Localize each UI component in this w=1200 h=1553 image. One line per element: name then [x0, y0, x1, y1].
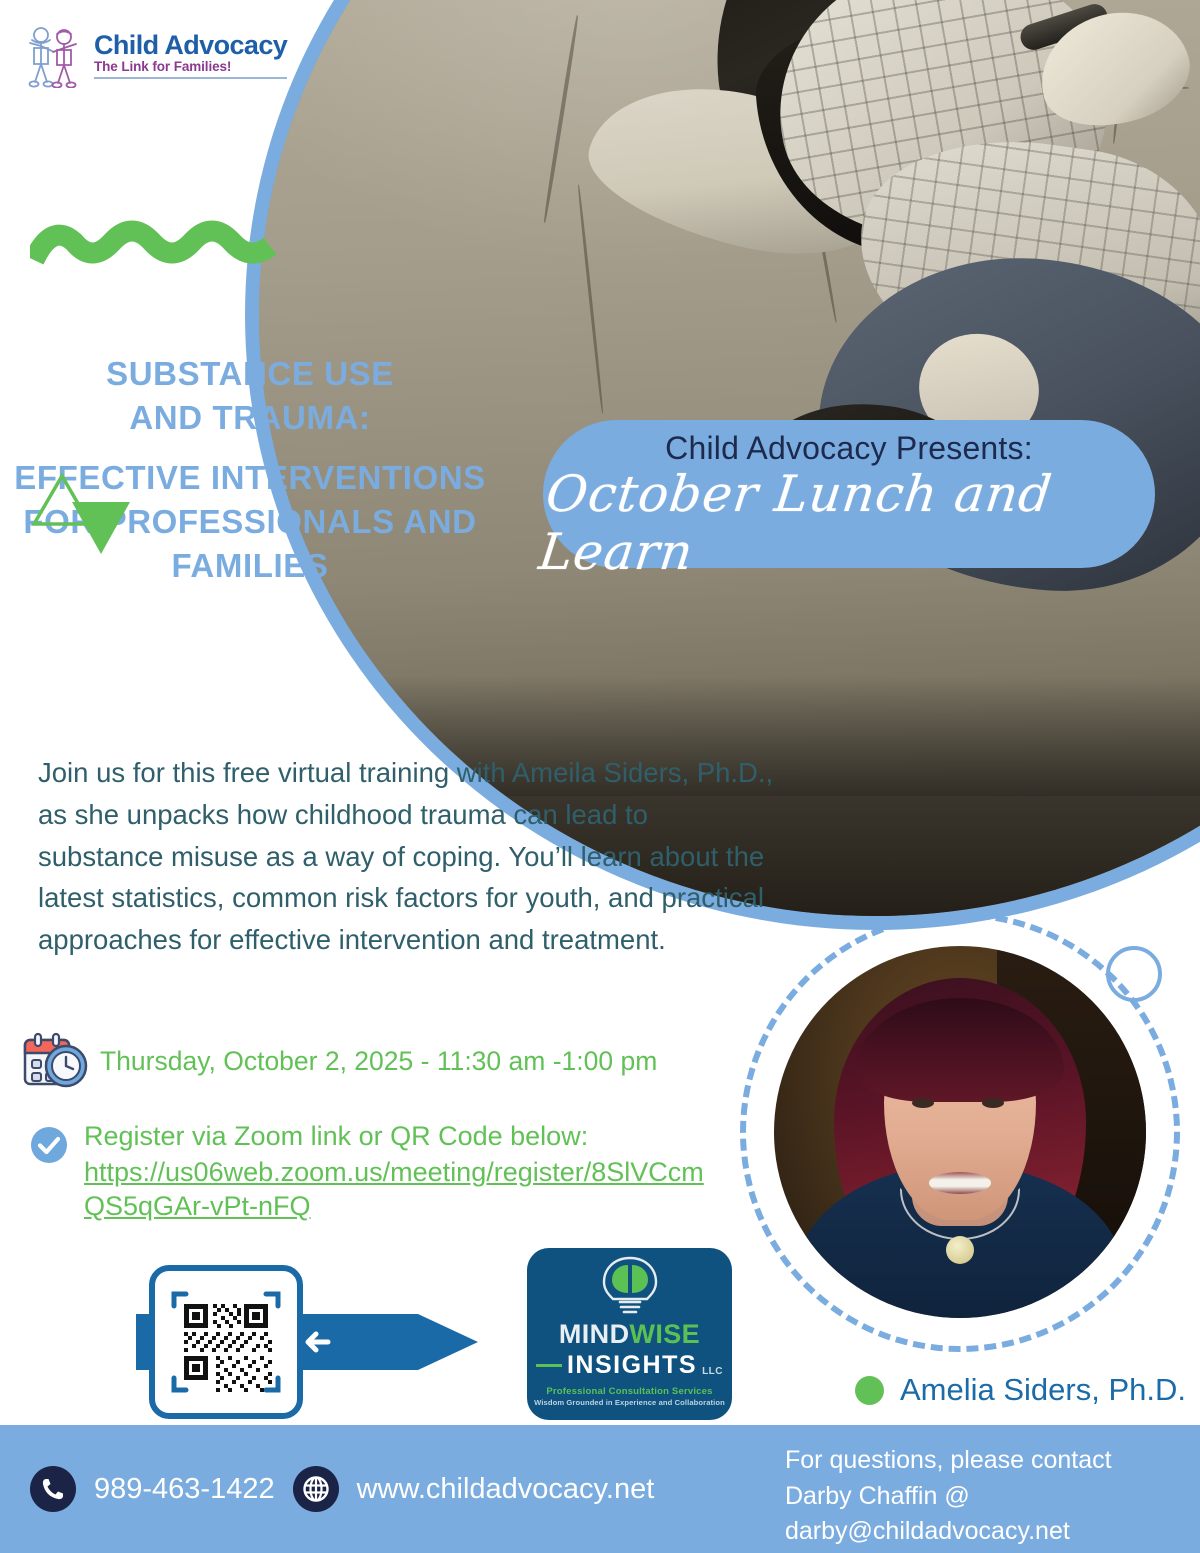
headline-line-2: and Trauma: — [0, 396, 500, 440]
register-link[interactable]: https://us06web.zoom.us/meeting/register… — [84, 1156, 714, 1224]
partner-logo-rule-left — [536, 1364, 562, 1367]
schedule-text: Thursday, October 2, 2025 - 11:30 am -1:… — [100, 1046, 657, 1077]
footer-questions-block: For questions, please contact Darby Chaf… — [785, 1443, 1112, 1550]
footer-contact-email[interactable]: darby@childadvocacy.net — [785, 1514, 1112, 1550]
speaker-necklace-pendant — [946, 1236, 974, 1264]
banner-presents-label: Child Advocacy Presents: — [665, 430, 1033, 467]
check-circle-icon — [30, 1126, 68, 1164]
footer-website[interactable]: www.childadvocacy.net — [357, 1473, 655, 1506]
speaker-name: Amelia Siders, Ph.D. — [900, 1372, 1186, 1408]
headline-line-1: Substance Use — [0, 352, 500, 396]
register-label: Register via Zoom link or QR Code below: — [84, 1120, 714, 1154]
phone-icon — [30, 1466, 76, 1512]
register-body: Register via Zoom link or QR Code below:… — [84, 1120, 714, 1223]
wall-crack — [577, 184, 604, 413]
org-logo-tagline: The Link for Families! — [94, 59, 287, 79]
green-triangles-mark-icon — [30, 468, 138, 560]
footer-bar: 989-463-1422 www.childadvocacy.net For q… — [0, 1425, 1200, 1553]
org-logo-title: Child Advocacy — [94, 31, 287, 59]
calendar-clock-icon — [22, 1032, 88, 1090]
partner-logo-wise: WISE — [629, 1319, 700, 1350]
footer-contact-line-1: For questions, please contact — [785, 1443, 1112, 1479]
partner-logo-insights-row: INSIGHTS LLC — [536, 1351, 723, 1380]
footer-phone: 989-463-1422 — [94, 1473, 275, 1506]
schedule-row: Thursday, October 2, 2025 - 11:30 am -1:… — [22, 1032, 657, 1090]
speaker-photo-frame — [740, 912, 1180, 1352]
wall-crack — [543, 15, 580, 223]
qr-block — [118, 1262, 498, 1427]
partner-logo-insights: INSIGHTS — [567, 1351, 697, 1380]
brain-lightbulb-icon — [594, 1255, 666, 1317]
banner-event-title: October Lunch and Learn — [536, 465, 1162, 581]
partner-logo-mind: MIND — [559, 1319, 630, 1350]
footer-contact-line-2: Darby Chaffin @ — [785, 1479, 1112, 1515]
avatar — [774, 946, 1146, 1318]
partner-logo-llc: LLC — [702, 1366, 723, 1380]
globe-icon — [293, 1466, 339, 1512]
green-dot-icon — [855, 1376, 884, 1405]
register-row: Register via Zoom link or QR Code below:… — [30, 1120, 760, 1223]
partner-logo-tagline-1: Professional Consultation Services — [546, 1386, 712, 1397]
footer-contact-group: 989-463-1422 www.childadvocacy.net — [30, 1466, 654, 1512]
green-wave-squiggle-icon — [30, 212, 280, 282]
partner-logo-wordmark: MIND WISE — [559, 1319, 700, 1350]
two-children-icon — [22, 22, 84, 88]
partner-logo-mindwise: MIND WISE INSIGHTS LLC Professional Cons… — [527, 1248, 732, 1420]
org-logo-text: Child Advocacy The Link for Families! — [94, 31, 287, 79]
org-logo: Child Advocacy The Link for Families! — [22, 22, 287, 88]
body-paragraph: Join us for this free virtual training w… — [38, 752, 778, 961]
qr-code-with-arrow — [118, 1262, 498, 1422]
speaker-eye-left — [912, 1098, 934, 1108]
speaker-eye-right — [982, 1098, 1004, 1108]
partner-logo-tagline-2: Wisdom Grounded in Experience and Collab… — [534, 1398, 725, 1407]
event-banner: Child Advocacy Presents: October Lunch a… — [543, 420, 1155, 568]
speaker-name-row: Amelia Siders, Ph.D. — [855, 1372, 1186, 1408]
